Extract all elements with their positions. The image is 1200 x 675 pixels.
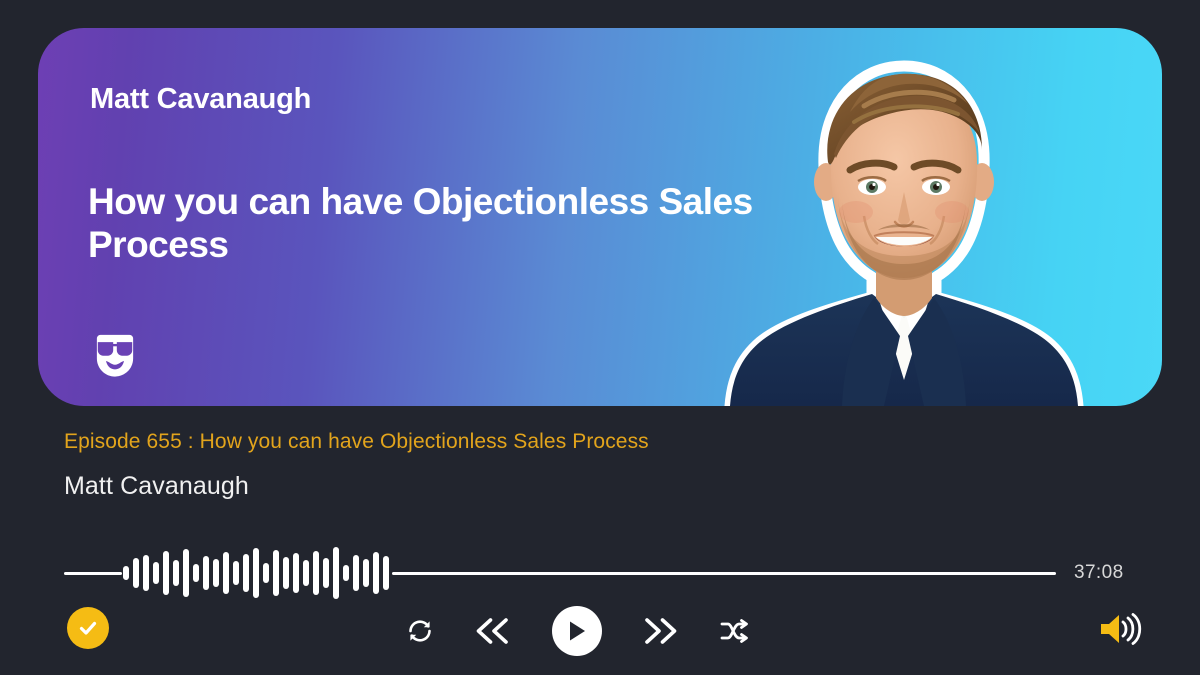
shuffle-button[interactable] xyxy=(718,616,750,646)
waveform-bar xyxy=(153,562,159,584)
waveform-bar xyxy=(183,549,189,597)
player-controls xyxy=(0,600,1200,662)
waveform-bar xyxy=(223,552,229,594)
waveform-bar xyxy=(243,554,249,592)
play-button[interactable] xyxy=(552,606,602,656)
repeat-button[interactable] xyxy=(405,616,435,646)
episode-title-link[interactable]: Episode 655 : How you can have Objection… xyxy=(64,430,649,454)
play-icon xyxy=(566,619,588,643)
mark-complete-button[interactable] xyxy=(67,607,109,649)
waveform-bar xyxy=(313,551,319,595)
waveform-bar xyxy=(323,558,329,588)
hero-card: Matt Cavanaugh How you can have Objectio… xyxy=(38,28,1162,406)
progress-remaining-track[interactable] xyxy=(392,572,1056,575)
waveform-bar xyxy=(363,559,369,587)
volume-button[interactable] xyxy=(1097,608,1143,650)
waveform-bar xyxy=(343,565,349,581)
waveform-bar xyxy=(263,563,269,583)
waveform-bar xyxy=(253,548,259,598)
waveform-bar xyxy=(283,557,289,589)
bearded-man-logo xyxy=(86,324,144,382)
rewind-button[interactable] xyxy=(472,615,514,647)
waveform-bar xyxy=(233,561,239,585)
forward-icon xyxy=(639,615,681,647)
volume-icon xyxy=(1097,608,1143,650)
waveform-bar xyxy=(123,566,129,580)
waveform-bar xyxy=(303,560,309,586)
waveform-bar xyxy=(213,559,219,587)
waveform-bar xyxy=(353,555,359,591)
hero-episode-title: How you can have Objectionless Sales Pro… xyxy=(88,180,788,267)
audio-waveform[interactable] xyxy=(123,545,389,601)
seek-bar[interactable]: 37:08 xyxy=(64,545,1136,601)
time-remaining: 37:08 xyxy=(1074,562,1136,584)
check-icon xyxy=(76,616,100,640)
waveform-bar xyxy=(273,550,279,596)
waveform-bar xyxy=(143,555,149,591)
waveform-bar xyxy=(163,551,169,595)
waveform-bar xyxy=(333,547,339,599)
waveform-bar xyxy=(293,553,299,593)
waveform-bar xyxy=(133,558,139,588)
rewind-icon xyxy=(472,615,514,647)
forward-button[interactable] xyxy=(639,615,681,647)
transport-controls xyxy=(405,600,750,662)
progress-played-track[interactable] xyxy=(64,572,122,575)
waveform-bar xyxy=(373,552,379,594)
repeat-icon xyxy=(405,616,435,646)
waveform-bar xyxy=(383,556,389,590)
waveform-bar xyxy=(203,556,209,590)
waveform-bar xyxy=(193,564,199,582)
episode-author: Matt Cavanaugh xyxy=(64,472,249,501)
shuffle-icon xyxy=(718,616,750,646)
hero-guest-name: Matt Cavanaugh xyxy=(90,83,311,116)
waveform-bar xyxy=(173,560,179,586)
